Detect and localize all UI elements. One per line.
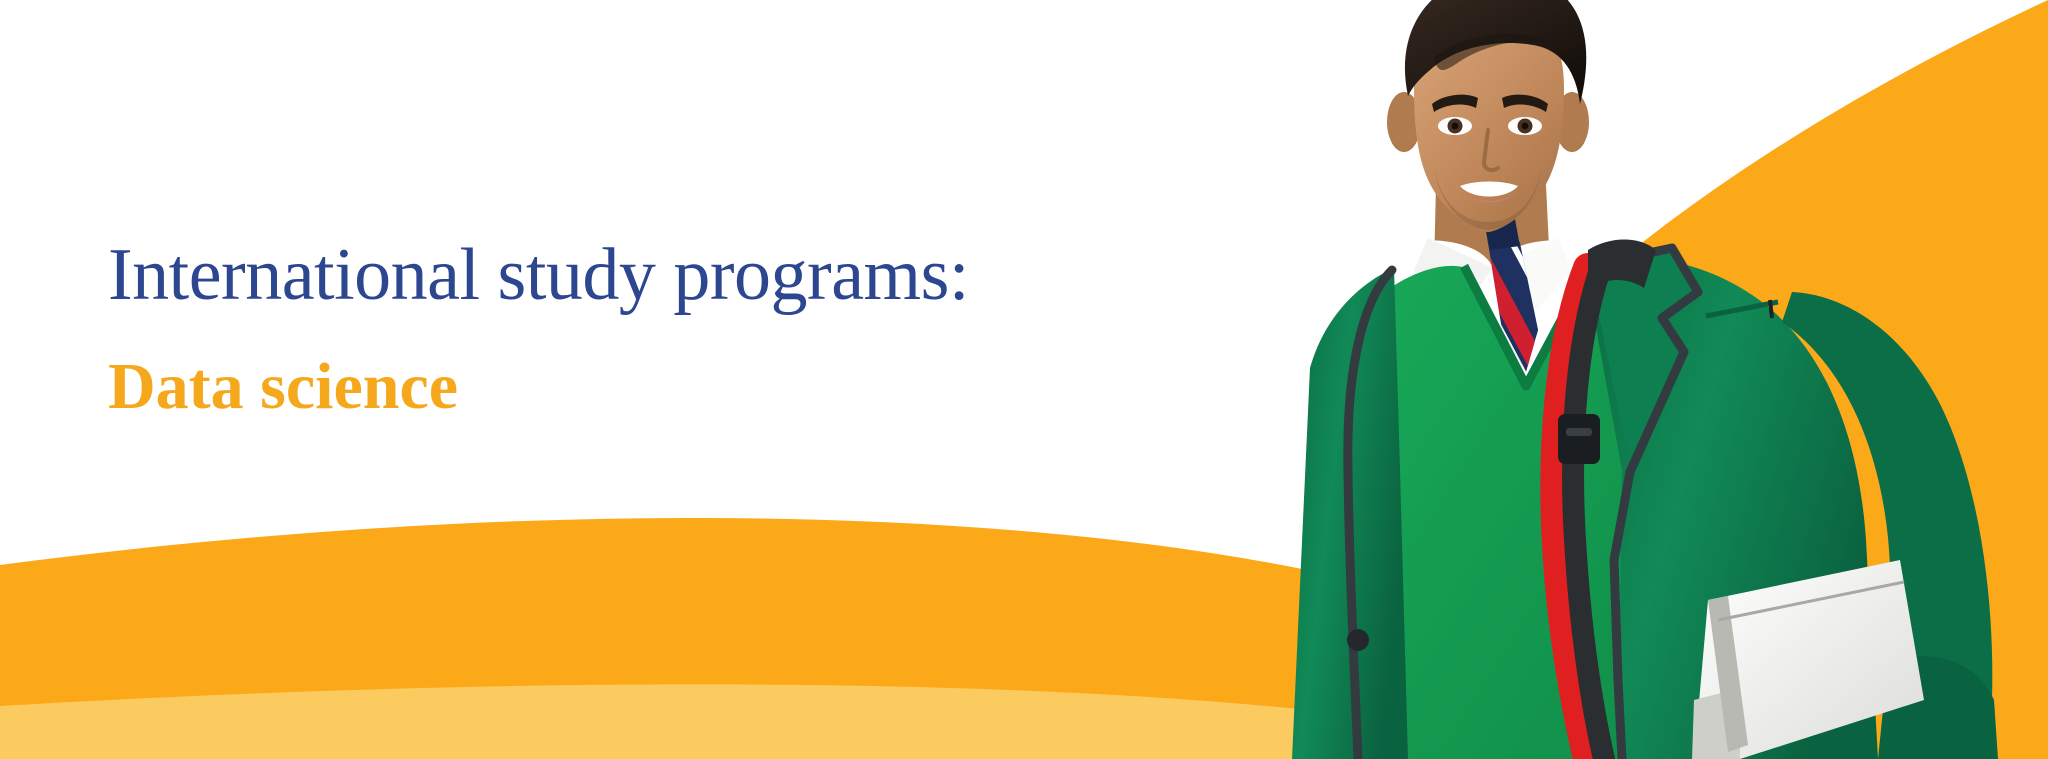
hero-banner: International study programs: Data scien… bbox=[0, 0, 2048, 759]
page-subtitle: Data science bbox=[108, 354, 1358, 420]
page-title: International study programs: bbox=[108, 238, 1358, 312]
hero-text-block: International study programs: Data scien… bbox=[108, 238, 1358, 420]
